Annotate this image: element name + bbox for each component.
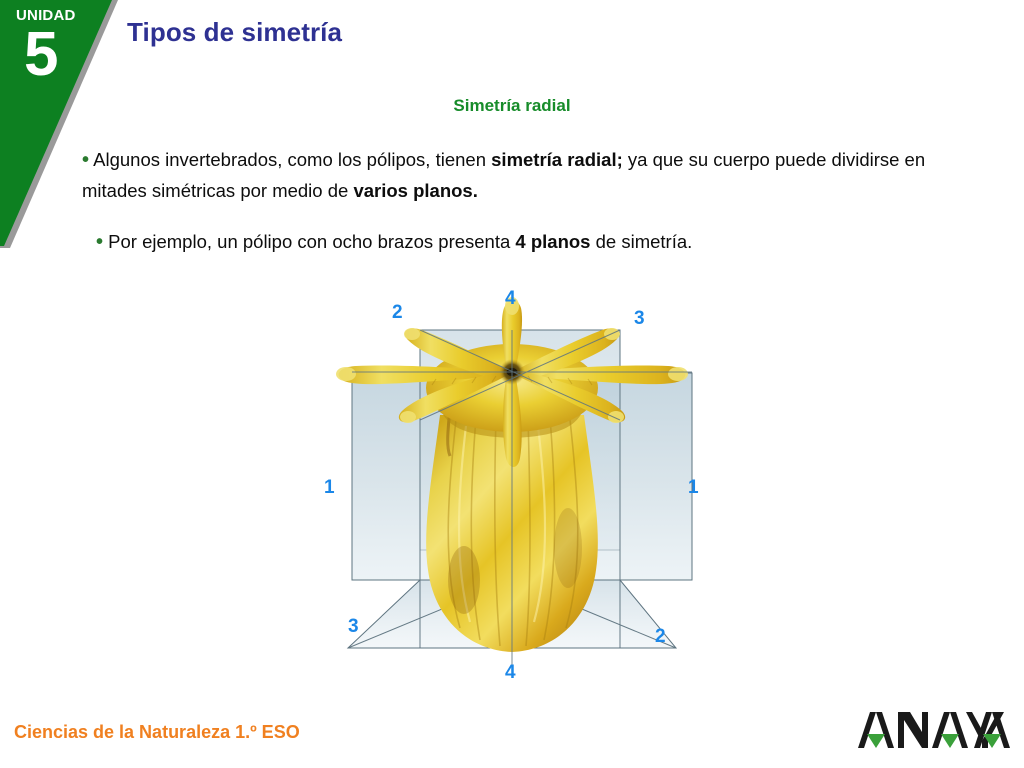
plane-label-1-right: 1: [688, 478, 699, 497]
anaya-logo: [856, 710, 1011, 756]
anaya-logo-mark: [856, 710, 1011, 756]
unit-badge: UNIDAD 5: [0, 0, 120, 250]
paragraph-text: Por ejemplo, un pólipo con ocho brazos p…: [108, 231, 692, 252]
plane-label-2-bottom: 2: [655, 627, 666, 646]
plane-label-2-top: 2: [392, 303, 403, 322]
plane-label-4-top: 4: [505, 289, 516, 308]
plane-label-1-left: 1: [324, 478, 335, 497]
bullet-glyph: •: [82, 149, 89, 171]
body-paragraph: • Por ejemplo, un pólipo con ocho brazos…: [96, 226, 960, 257]
footer-course-title: Ciencias de la Naturaleza 1.º ESO: [14, 722, 300, 743]
unit-label: UNIDAD: [16, 7, 76, 24]
bullet-glyph: •: [96, 231, 103, 253]
plane-label-3-bottom: 3: [348, 617, 359, 636]
plane-label-4-bottom: 4: [505, 663, 516, 682]
body-paragraph: • Algunos invertebrados, como los pólipo…: [82, 144, 960, 206]
slide-canvas: UNIDAD 5 Tipos de simetría Simetría radi…: [0, 0, 1024, 768]
paragraph-text: Algunos invertebrados, como los pólipos,…: [82, 149, 925, 201]
section-subtitle: Simetría radial: [0, 96, 1024, 116]
unit-number: 5: [24, 24, 58, 86]
page-title: Tipos de simetría: [127, 17, 342, 48]
symmetry-diagram: 2 4 3 1 1 3 2 4: [300, 280, 724, 700]
unit-badge-shape: [0, 0, 120, 250]
plane-label-3-top: 3: [634, 309, 645, 328]
